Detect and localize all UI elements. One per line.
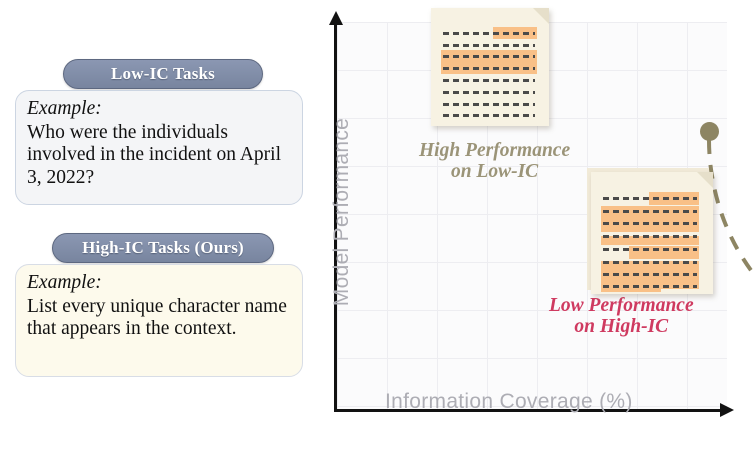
low-ic-example-card: Example: Who were the individuals involv… (15, 90, 303, 205)
low-ic-example-text: Who were the individuals involved in the… (27, 122, 291, 190)
document-high-coverage-icon (591, 172, 713, 294)
low-performance-annotation-line1: Low Performance (549, 295, 694, 316)
low-ic-data-point (700, 122, 719, 141)
high-ic-example-text: List every unique character name that ap… (27, 296, 291, 342)
low-ic-tasks-pill: Low-IC Tasks (63, 59, 263, 89)
document-low-coverage-body (431, 8, 549, 126)
low-ic-example-label: Example: (27, 98, 291, 121)
high-ic-example-card: Example: List every unique character nam… (15, 264, 303, 377)
low-performance-annotation-line2: on High-IC (549, 316, 694, 337)
high-ic-tasks-pill-label: High-IC Tasks (Ours) (82, 238, 244, 258)
high-performance-annotation-line2: on Low-IC (419, 161, 570, 182)
low-ic-tasks-pill-label: Low-IC Tasks (111, 64, 215, 84)
document-low-coverage-icon (431, 8, 549, 126)
performance-coverage-chart: Model Performance Information Coverage (… (315, 0, 756, 456)
high-ic-example-label: Example: (27, 272, 291, 295)
figure-root: Low-IC Tasks Example: Who were the indiv… (0, 0, 756, 456)
high-performance-annotation-line1: High Performance (419, 140, 570, 161)
high-ic-tasks-pill: High-IC Tasks (Ours) (52, 233, 274, 263)
low-performance-annotation: Low Performance on High-IC (549, 295, 694, 337)
high-performance-annotation: High Performance on Low-IC (419, 140, 570, 182)
task-examples-panel: Low-IC Tasks Example: Who were the indiv… (0, 0, 315, 456)
document-high-coverage-body (591, 172, 713, 294)
